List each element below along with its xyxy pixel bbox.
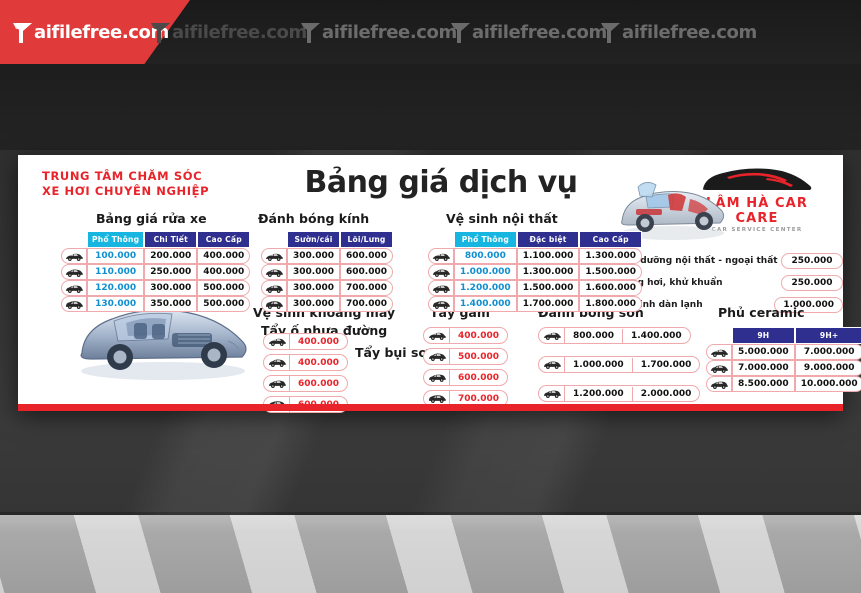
sedan-icon [427,330,447,341]
vehicle-type-icon-cell [706,376,732,392]
vehicle-type-icon-cell [428,296,454,312]
price-cell: 1.300.000 [579,248,642,264]
price-cell: 1.700.000 [517,296,580,312]
van-icon [431,299,451,310]
vehicle-type-icon-cell [261,248,287,264]
watermark-text: aifilefree.com [472,22,607,43]
list-item: 1.200.0002.000.000 [538,385,700,402]
vehicle-type-icon-cell [706,344,732,360]
vehicle-type-icon-cell [706,360,732,376]
table-header-row: Phổ ThôngChi TiếtCao Cấp [61,231,250,248]
price-cell: 130.000 [87,296,144,312]
watermark-row: aifilefree.comaifilefree.comaifilefree.c… [0,0,861,64]
table-row: 1.400.0001.700.0001.800.000 [428,296,642,312]
suv-icon [267,357,287,368]
watermark-item: aifilefree.com [450,21,600,43]
table-row: 1.000.0001.300.0001.500.000 [428,264,642,280]
price-cell: 10.000.000 [795,376,861,392]
extra-service-label: Bảo dưỡng nội thất - ngoại thất [618,256,781,266]
sedan-icon [542,330,562,341]
watermark-bar: aifilefree.comaifilefree.comaifilefree.c… [0,0,861,64]
suv-icon [542,359,562,370]
price-cell: 120.000 [87,280,144,296]
glass-polish-price-table: Sườn/cáiLõi/Lưng300.000600.000300.000600… [261,231,393,312]
vehicle-type-icon-cell [539,328,565,343]
table-row: 5.000.0007.000.000 [706,344,861,360]
vehicle-type-icon-cell [539,357,565,372]
price-cell: 1.100.000 [517,248,580,264]
list-item: 400.000 [263,333,348,350]
wagon-icon [64,283,84,294]
price-cell: 500.000 [450,350,507,364]
section-heading-interior: Vệ sinh nội thất [446,211,558,226]
wagon-icon [267,378,287,389]
vehicle-type-icon-cell [428,248,454,264]
column-header: Đặc biệt [517,231,580,248]
watermark-text: aifilefree.com [172,22,307,43]
vehicle-type-icon-cell [264,376,290,391]
list-item: 600.000 [263,375,348,392]
price-cell: 1.000.000 [454,264,517,280]
price-cell: 1.200.000 [565,387,632,401]
wagon-icon [431,283,451,294]
vehicle-type-icon-cell [61,264,87,280]
price-cell: 500.000 [197,296,250,312]
watermark-text: aifilefree.com [34,22,169,43]
vehicle-type-icon-cell [264,355,290,370]
section-heading-wash: Bảng giá rửa xe [96,211,207,226]
board-bottom-red-bar [18,404,843,411]
vehicle-type-icon-cell [264,334,290,349]
suv-icon [427,351,447,362]
price-cell: 1.500.000 [579,264,642,280]
price-cell: 8.500.000 [732,376,795,392]
watermark-item: aifilefree.com [600,21,750,43]
price-cell: 300.000 [287,296,340,312]
price-cell: 300.000 [144,280,197,296]
price-cell: 1.800.000 [579,296,642,312]
wagon-icon [427,372,447,383]
vehicle-type-icon-cell [61,280,87,296]
price-cell: 9.000.000 [795,360,861,376]
sedan-icon [64,251,84,262]
price-cell: 400.000 [290,356,347,370]
price-cell: 1.000.000 [565,358,632,372]
van-icon [264,299,284,310]
extra-service-price: 250.000 [781,253,843,269]
brand-tagline-line1: TRUNG TÂM CHĂM SÓC [42,169,209,184]
table-row: 300.000700.000 [261,280,393,296]
price-cell: 500.000 [197,280,250,296]
brand-tagline-line2: XE HƠI CHUYÊN NGHIỆP [42,184,209,199]
table-row: 1.200.0001.500.0001.600.000 [428,280,642,296]
list-item: Xông hơi, khử khuẩn 250.000 [618,275,843,291]
price-cell: 600.000 [340,248,393,264]
vehicle-type-icon-cell [261,296,287,312]
price-cell: 7.000.000 [795,344,861,360]
wash-price-table: Phổ ThôngChi TiếtCao Cấp100.000200.00040… [61,231,250,312]
price-board: TRUNG TÂM CHĂM SÓC XE HƠI CHUYÊN NGHIỆP … [18,155,843,410]
price-cell: 800.000 [565,329,622,343]
price-cell: 1.300.000 [517,264,580,280]
price-cell: 300.000 [287,280,340,296]
list-item: 1.000.0001.700.000 [538,356,700,373]
sedan-icon [431,251,451,262]
column-header: Phổ Thông [87,231,144,248]
sedan-icon [709,347,729,358]
table-row: 300.000600.000 [261,248,393,264]
price-cell: 300.000 [287,248,340,264]
suv-icon [431,267,451,278]
price-cell: 5.000.000 [732,344,795,360]
taifilefree-logo-icon [300,22,321,44]
wagon-icon [709,379,729,390]
price-cell: 300.000 [287,264,340,280]
taifilefree-logo-icon [150,22,171,44]
price-cell: 100.000 [87,248,144,264]
watermark-item: aifilefree.com [0,21,150,43]
price-cell: 700.000 [340,280,393,296]
price-cell: 110.000 [87,264,144,280]
table-row: 300.000700.000 [261,296,393,312]
watermark-item: aifilefree.com [300,21,450,43]
price-cell: 200.000 [144,248,197,264]
suv-icon [709,363,729,374]
vehicle-type-icon-cell [61,296,87,312]
price-cell: 400.000 [450,329,507,343]
vehicle-type-icon-cell [61,248,87,264]
column-header: Cao Cấp [197,231,250,248]
price-cell: 400.000 [290,335,347,349]
section-heading-ceramic: Phủ ceramic [718,305,805,320]
taifilefree-logo-icon [450,22,471,44]
list-item: 400.000 [423,327,508,344]
vehicle-type-icon-cell [261,264,287,280]
vehicle-type-icon-cell [428,264,454,280]
table-row: 130.000350.000500.000 [61,296,250,312]
list-item: 500.000 [423,348,508,365]
list-item: 600.000 [423,369,508,386]
price-cell: 600.000 [340,264,393,280]
vehicle-type-icon-cell [424,349,450,364]
vehicle-type-icon-cell [424,370,450,385]
watermark-item: aifilefree.com [150,21,300,43]
column-header: Chi Tiết [144,231,197,248]
price-cell: 1.400.000 [622,329,690,343]
vehicle-type-icon-cell [539,386,565,401]
price-cell: 1.200.000 [454,280,517,296]
list-item: 800.0001.400.000 [538,327,700,344]
sedan-icon [267,336,287,347]
section-heading-glass: Đánh bóng kính [258,211,369,226]
vehicle-type-icon-cell [428,280,454,296]
list-item: 400.000 [263,354,348,371]
extra-service-label: Xông hơi, khử khuẩn [618,278,781,288]
price-cell: 600.000 [290,377,347,391]
price-cell: 1.400.000 [454,296,517,312]
table-row: 800.0001.100.0001.300.000 [428,248,642,264]
price-cell: 700.000 [340,296,393,312]
table-header-row: Phổ ThôngĐặc biệtCao Cấp [428,231,642,248]
watermark-text: aifilefree.com [322,22,457,43]
floor-light-streaks [0,515,861,593]
interior-price-table: Phổ ThôngĐặc biệtCao Cấp800.0001.100.000… [428,231,642,312]
taifilefree-logo-icon [600,22,621,44]
table-row: 8.500.00010.000.000 [706,376,861,392]
extra-service-price: 250.000 [781,275,843,291]
van-icon [427,393,447,404]
suv-icon [64,267,84,278]
wagon-icon [264,283,284,294]
price-cell: 400.000 [197,248,250,264]
wagon-icon [542,388,562,399]
table-header-row: Sườn/cáiLõi/Lưng [261,231,393,248]
table-row: 100.000200.000400.000 [61,248,250,264]
list-item: Bảo dưỡng nội thất - ngoại thất 250.000 [618,253,843,269]
column-header: Cao Cấp [579,231,642,248]
paint-polish-price-list: 800.0001.400.0001.000.0001.700.0001.200.… [538,327,700,414]
price-cell: 250.000 [144,264,197,280]
price-cell: 400.000 [197,264,250,280]
vehicle-type-icon-cell [261,280,287,296]
page-title: Bảng giá dịch vụ [276,165,606,200]
column-header: Sườn/cái [287,231,340,248]
table-row: 7.000.0009.000.000 [706,360,861,376]
price-cell: 600.000 [450,371,507,385]
price-cell: 800.000 [454,248,517,264]
underbody-price-list: 400.000500.000600.000700.000 [423,327,508,411]
column-header: Lõi/Lưng [340,231,393,248]
column-header: 9H+ [795,327,861,344]
sedan-icon [264,251,284,262]
price-cell: 1.600.000 [579,280,642,296]
vehicle-type-icon-cell [424,328,450,343]
brand-tagline: TRUNG TÂM CHĂM SÓC XE HƠI CHUYÊN NGHIỆP [42,169,209,199]
table-row: 300.000600.000 [261,264,393,280]
column-header: Phổ Thông [454,231,517,248]
price-cell: 7.000.000 [732,360,795,376]
price-cell: 1.700.000 [632,358,700,372]
van-icon [64,299,84,310]
suv-icon [264,267,284,278]
price-cell: 2.000.000 [632,387,700,401]
taifilefree-logo-icon [12,22,33,44]
column-header: 9H [732,327,795,344]
price-cell: 350.000 [144,296,197,312]
price-cell: 1.500.000 [517,280,580,296]
table-header-row: 9H9H+ [706,327,861,344]
floor [0,515,861,593]
floor-wall-seam [0,512,861,515]
ceramic-price-table: 9H9H+5.000.0007.000.0007.000.0009.000.00… [706,327,861,392]
watermark-text: aifilefree.com [622,22,757,43]
table-row: 120.000300.000500.000 [61,280,250,296]
table-row: 110.000250.000400.000 [61,264,250,280]
